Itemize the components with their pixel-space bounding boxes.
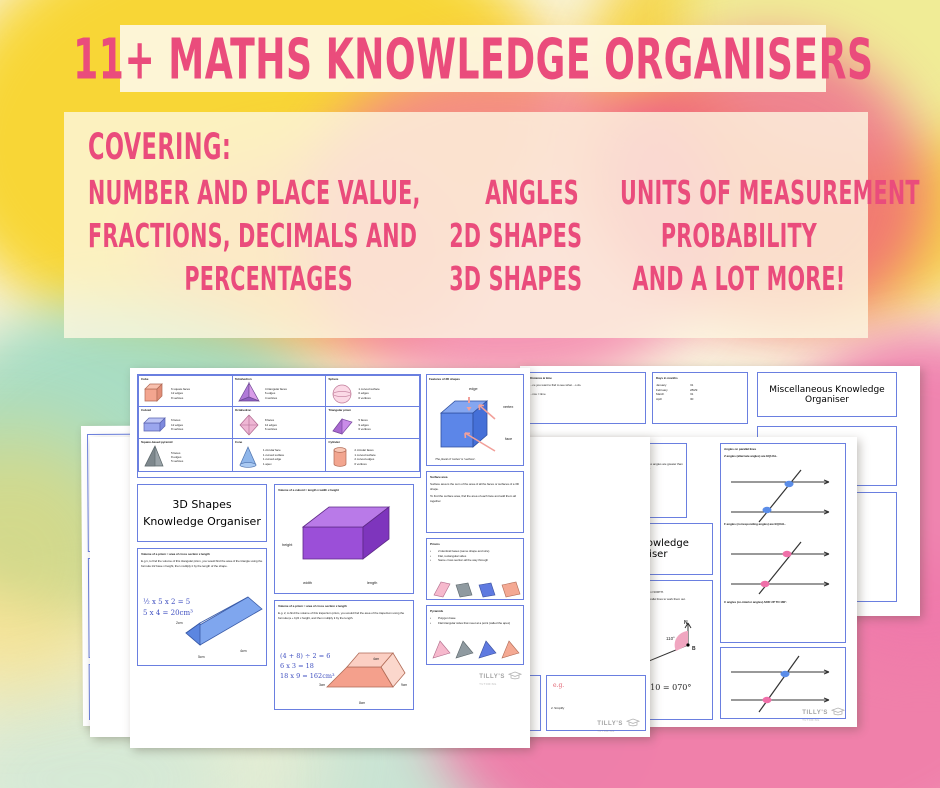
cuboid-icon xyxy=(141,413,169,437)
cone-icon xyxy=(235,444,261,470)
shape-name: Octahedron xyxy=(235,408,251,412)
shape-name: Cone xyxy=(235,440,242,444)
shape-fact: 4 vertices xyxy=(265,396,287,400)
topic-units-of-measurement: UNITS OF MEASUREMENT xyxy=(620,176,850,213)
topic-2d-shapes: 2D SHAPES xyxy=(449,219,628,256)
shape-fact: 2 curved edges xyxy=(354,457,375,461)
shapes3d-title-line1: 3D Shapes xyxy=(172,498,231,511)
topic-fractions-decimals: FRACTIONS, DECIMALS AND xyxy=(82,219,449,256)
misc-title-line1: Miscellaneous Knowledge xyxy=(769,385,884,395)
covering-panel: COVERING: NUMBER AND PLACE VALUE, ANGLES… xyxy=(64,112,868,338)
prism-2-dim-3: 8cm xyxy=(359,701,365,705)
square-based-pyramid-icon xyxy=(141,444,169,470)
shape-fact: 1 curved edge xyxy=(263,457,284,461)
brand-sub-3: TUTORING xyxy=(479,683,505,686)
pyramids-heading: Pyramids xyxy=(430,609,443,613)
shape-fact: 8 vertices xyxy=(171,427,183,431)
shape-fact: 8 vertices xyxy=(171,396,190,400)
shape-name: Cylinder xyxy=(328,440,340,444)
shape-name: Sphere xyxy=(328,377,338,381)
topics-row-1: FRACTIONS, DECIMALS AND 2D SHAPES PROBAB… xyxy=(82,224,850,250)
shape-fact: 0 vertices xyxy=(358,396,379,400)
prism-1-dim-2: 4cm xyxy=(240,649,247,653)
cube-icon xyxy=(141,381,169,405)
brand-logo-3d: TILLY'S TUTORING xyxy=(479,665,522,686)
pyramid-examples-icon xyxy=(430,638,524,662)
shape-fact: 0 vertices xyxy=(354,462,375,466)
parallel-rule-c: C angles (co-interior angles) ADD UP TO … xyxy=(724,600,787,604)
triangular-prism-icon xyxy=(328,413,356,437)
prism-2-dim-2: 9cm xyxy=(401,683,407,687)
feature-label-face: face xyxy=(505,437,512,441)
title-banner: 11+ MATHS KNOWLEDGE ORGANISERS xyxy=(120,25,826,92)
days-row-3: April30 xyxy=(656,397,744,401)
tetrahedron-icon xyxy=(235,381,263,405)
prism-bullet: Same cross section all the way through xyxy=(438,558,488,562)
prism-volume-2-body: E.g. 2, to find the volume of this trape… xyxy=(278,611,410,620)
cuboid-volume-heading: Volume of a cuboid = length x width x he… xyxy=(278,488,339,492)
page-title: 11+ MATHS KNOWLEDGE ORGANISERS xyxy=(73,25,873,91)
table-row: Cube 6 square faces 12 edges 8 vertices xyxy=(139,376,420,407)
shape-fact: 6 vertices xyxy=(358,427,370,431)
cylinder-icon xyxy=(328,444,352,470)
octahedron-icon xyxy=(235,413,263,437)
prism-volume-1-body: E.g.1, to find the volume of this triang… xyxy=(141,559,263,568)
table-row: Cuboid 6 faces 12 edges 8 vertices xyxy=(139,407,420,438)
graduation-cap-icon xyxy=(831,707,845,716)
surface-area-body1: Surface area is the sum of the area of a… xyxy=(430,482,520,491)
cuboid-label-length: length xyxy=(367,581,377,585)
cuboid-label-width: width xyxy=(303,581,312,585)
shape-fact: 6 vertices xyxy=(265,427,277,431)
simplify-step: 2. Simplify xyxy=(551,706,564,710)
prisms-heading: Prisms xyxy=(430,542,440,546)
parallel-rule-z: Z angles (alternate angles) are EQUAL. xyxy=(724,454,777,458)
misc-title-line2: Organiser xyxy=(805,395,849,405)
sphere-icon xyxy=(328,381,356,405)
feature-label-edge: edge xyxy=(469,387,478,391)
shape-name: Triangular prism xyxy=(328,408,351,412)
parallel-heading: Angles on parallel lines xyxy=(724,447,756,451)
prism-1-dim-1: 5cm xyxy=(198,655,205,659)
prism-2-dim-0: 4cm xyxy=(373,657,379,661)
cube-features-diagram xyxy=(435,397,499,459)
pyramid-bullet: Flat triangular sides that meet at a poi… xyxy=(438,621,510,625)
reflex-text: Reflex angles are greater than 180°. xyxy=(644,462,688,471)
topic-3d-shapes: 3D SHAPES xyxy=(449,262,628,299)
cuboid-volume-diagram xyxy=(285,497,409,583)
brand-name-2: TILLY'S xyxy=(597,721,623,727)
brand-sub: TUTORING xyxy=(802,719,828,722)
prism-examples-icon xyxy=(430,577,524,599)
shapes3d-title-line2: Knowledge Organiser xyxy=(143,515,261,528)
days-in-months-heading: Days in months xyxy=(656,376,678,380)
surface-area-body2: To find the surface area, find the area … xyxy=(430,494,520,503)
trapezium-prism-volume-diagram xyxy=(319,641,413,703)
topic-angles: ANGLES xyxy=(444,176,620,213)
shape-name: Tetrahedron xyxy=(235,377,252,381)
prism-1-dim-0: 2cm xyxy=(176,621,183,625)
shape-fact: 5 vertices xyxy=(171,459,183,463)
topics-row-2: PERCENTAGES 3D SHAPES AND A LOT MORE! xyxy=(82,267,850,293)
triangular-prism-volume-diagram xyxy=(176,589,268,651)
features-heading: Features of 3D shapes xyxy=(429,377,460,381)
topic-percentages: PERCENTAGES xyxy=(82,262,449,299)
bearings-label-110: 110° xyxy=(666,637,675,641)
brand-logo-fractions: TILLY'S TUTORING xyxy=(597,712,640,733)
prism-2-dim-1: 3cm xyxy=(319,683,325,687)
shape-name: Cube xyxy=(141,377,148,381)
topics-row-0: NUMBER AND PLACE VALUE, ANGLES UNITS OF … xyxy=(82,181,850,207)
graduation-cap-icon xyxy=(626,718,640,727)
shape-fact: 1 apex xyxy=(263,462,284,466)
eg-label-d: e.g. xyxy=(553,682,564,689)
f-angles-diagram xyxy=(725,540,843,596)
surface-area-heading: Surface area xyxy=(430,475,447,479)
shape-name: Square-based pyramid xyxy=(141,440,172,444)
bearings-label-B: B xyxy=(692,647,696,651)
prism-volume-1-heading: Volume of a prism = area of cross sectio… xyxy=(141,552,210,556)
bearings-label-N2: N xyxy=(684,621,688,625)
brand-sub-2: TUTORING xyxy=(597,730,623,733)
table-row: Square-based pyramid 5 faces 8 edges 5 v… xyxy=(139,438,420,471)
topic-probability: PROBABILITY xyxy=(628,219,850,256)
parallel-rule-f: F angles (corresponding angles) are EQUA… xyxy=(724,522,786,526)
z-angles-diagram xyxy=(725,468,843,524)
topic-number-place-value: NUMBER AND PLACE VALUE, xyxy=(82,176,444,213)
distance-time-body1: ...ce you want to find to see what ...o … xyxy=(530,383,642,387)
shape-fact-table: Cube 6 square faces 12 edges 8 vertices xyxy=(138,375,420,472)
topic-and-a-lot-more: AND A LOT MORE! xyxy=(628,262,850,299)
covering-label: COVERING: xyxy=(88,125,850,167)
features-note: The plural of 'vertex' is 'vertices'. xyxy=(435,457,476,461)
feature-label-vertex: vertex xyxy=(503,405,513,409)
distance-time-heading: Distance & time xyxy=(530,376,552,380)
worksheet-3d-shapes[interactable]: Cube 6 square faces 12 edges 8 vertices xyxy=(130,368,530,748)
shape-name: Cuboid xyxy=(141,408,151,412)
brand-logo-angles: TILLY'S TUTORING xyxy=(802,701,845,722)
prism-volume-2-heading: Volume of a prism = area of cross sectio… xyxy=(278,604,347,608)
distance-time-body2: ...nce = time xyxy=(530,392,642,396)
graduation-cap-icon xyxy=(508,671,522,680)
cuboid-label-height: height xyxy=(282,543,292,547)
brand-name-3: TILLY'S xyxy=(479,674,505,680)
brand-name: TILLY'S xyxy=(802,710,828,716)
